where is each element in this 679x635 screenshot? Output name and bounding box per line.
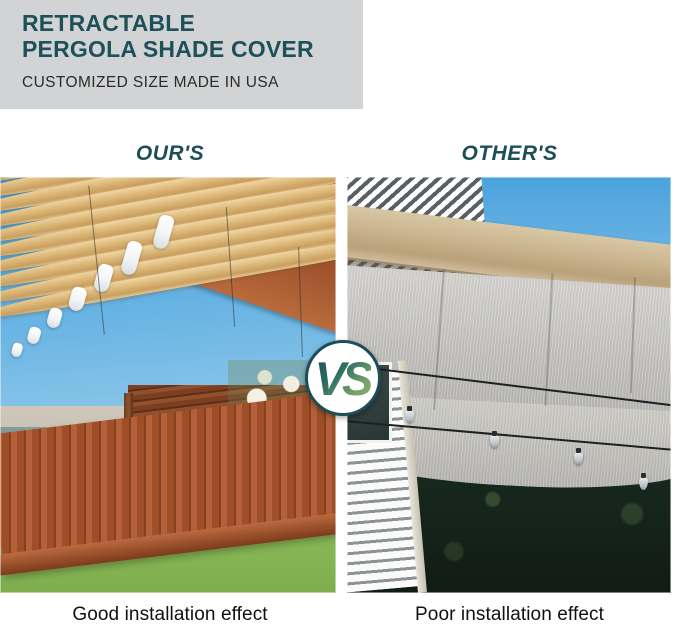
photo-others [347, 177, 671, 593]
string-light-bulb [490, 435, 499, 448]
caption-poor-installation: Poor installation effect [340, 604, 679, 626]
scene-poor-installation [347, 177, 671, 593]
photo-ours [0, 177, 336, 593]
header-banner: RETRACTABLE PERGOLA SHADE COVER CUSTOMIZ… [0, 0, 363, 109]
string-light-bulb [574, 452, 583, 465]
caption-good-installation: Good installation effect [0, 604, 340, 626]
page-subtitle: CUSTOMIZED SIZE MADE IN USA [22, 74, 363, 92]
column-label-others: OTHER'S [340, 142, 679, 166]
vs-badge: VS [305, 340, 381, 416]
column-label-ours: OUR'S [0, 142, 340, 166]
page-title: RETRACTABLE PERGOLA SHADE COVER [22, 10, 363, 62]
scene-good-installation [0, 177, 336, 593]
string-light-bulb [639, 477, 648, 490]
vs-label: VS [315, 355, 372, 402]
